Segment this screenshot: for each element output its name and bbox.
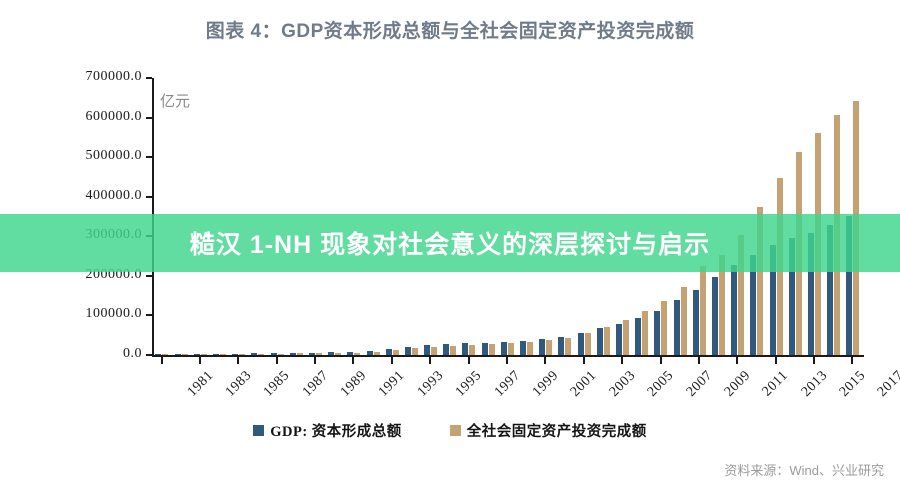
- bar-gdp-capital-formation: [501, 342, 507, 355]
- x-tick-label: 2017: [875, 368, 900, 401]
- bar-gdp-capital-formation: [347, 352, 353, 355]
- x-tick-label: 2007: [683, 368, 716, 401]
- bar-gdp-capital-formation: [194, 354, 200, 355]
- bar-gdp-capital-formation: [309, 353, 315, 356]
- bar-fixed-asset-investment: [642, 311, 648, 355]
- bar-gdp-capital-formation: [175, 354, 181, 355]
- bar-gdp-capital-formation: [271, 353, 277, 355]
- x-tick-label: 1995: [453, 368, 486, 401]
- bar-gdp-capital-formation: [213, 354, 219, 355]
- source-note: 资料来源：Wind、兴业研究: [724, 460, 884, 479]
- x-tick-mark: [314, 357, 316, 364]
- x-tick-label: 1989: [338, 368, 371, 401]
- bar-gdp-capital-formation: [635, 318, 641, 355]
- x-tick-label: 1987: [300, 368, 333, 401]
- y-tick-label: 400000.0: [86, 188, 143, 204]
- x-tick-label: 2015: [837, 368, 870, 401]
- chart-legend: GDP: 资本形成总额全社会固定资产投资完成额: [0, 420, 900, 441]
- bar-fixed-asset-investment: [162, 354, 168, 355]
- y-tick-label: 600000.0: [86, 109, 143, 125]
- bar-fixed-asset-investment: [585, 333, 591, 355]
- legend-item: 全社会固定资产投资完成额: [450, 420, 647, 441]
- bar-fixed-asset-investment: [201, 354, 207, 355]
- bar-gdp-capital-formation: [654, 311, 660, 355]
- watermark-text: 糙汉 1-NH 现象对社会意义的深层探讨与启示: [190, 225, 710, 261]
- x-tick-label: 2005: [645, 368, 678, 401]
- legend-swatch: [450, 425, 461, 436]
- bar-fixed-asset-investment: [220, 354, 226, 355]
- bar-fixed-asset-investment: [278, 354, 284, 356]
- bar-fixed-asset-investment: [258, 354, 264, 355]
- x-tick-mark: [583, 357, 585, 364]
- legend-item: GDP: 资本形成总额: [253, 420, 402, 441]
- bar-fixed-asset-investment: [374, 352, 380, 355]
- x-tick-mark: [621, 357, 623, 364]
- bar-gdp-capital-formation: [597, 328, 603, 355]
- bar-fixed-asset-investment: [546, 340, 552, 355]
- bar-gdp-capital-formation: [539, 339, 545, 355]
- bar-gdp-capital-formation: [674, 300, 680, 355]
- bar-fixed-asset-investment: [316, 353, 322, 355]
- bar-gdp-capital-formation: [443, 344, 449, 355]
- bar-gdp-capital-formation: [712, 277, 718, 355]
- bar-fixed-asset-investment: [508, 343, 514, 355]
- bar-gdp-capital-formation: [155, 354, 161, 355]
- legend-swatch: [253, 425, 264, 436]
- x-tick-label: 1997: [491, 368, 524, 401]
- x-tick-mark: [506, 357, 508, 364]
- bar-fixed-asset-investment: [335, 353, 341, 355]
- x-tick-label: 1983: [223, 368, 256, 401]
- y-tick-label: 100000.0: [86, 306, 143, 322]
- bar-gdp-capital-formation: [367, 351, 373, 355]
- bar-fixed-asset-investment: [604, 327, 610, 355]
- y-tick-mark: [146, 156, 152, 158]
- y-tick-mark: [146, 117, 152, 119]
- y-tick-mark: [146, 196, 152, 198]
- bar-gdp-capital-formation: [520, 341, 526, 355]
- x-tick-mark: [851, 357, 853, 364]
- x-tick-mark: [199, 357, 201, 364]
- bar-gdp-capital-formation: [462, 343, 468, 355]
- x-tick-mark: [544, 357, 546, 364]
- x-tick-mark: [736, 357, 738, 364]
- bar-fixed-asset-investment: [297, 353, 303, 355]
- bar-gdp-capital-formation: [328, 352, 334, 355]
- bar-fixed-asset-investment: [661, 301, 667, 355]
- bar-gdp-capital-formation: [558, 337, 564, 355]
- bar-fixed-asset-investment: [412, 348, 418, 355]
- bar-gdp-capital-formation: [251, 353, 257, 355]
- bar-fixed-asset-investment: [393, 350, 399, 355]
- bar-fixed-asset-investment: [565, 338, 571, 355]
- bar-gdp-capital-formation: [578, 333, 584, 355]
- y-tick-mark: [146, 314, 152, 316]
- x-tick-label: 2013: [798, 368, 831, 401]
- bar-fixed-asset-investment: [182, 354, 188, 355]
- bar-gdp-capital-formation: [731, 265, 737, 355]
- x-tick-mark: [660, 357, 662, 364]
- bar-fixed-asset-investment: [700, 266, 706, 355]
- y-tick-mark: [146, 275, 152, 277]
- bar-fixed-asset-investment: [681, 287, 687, 355]
- bar-gdp-capital-formation: [482, 343, 488, 355]
- bar-fixed-asset-investment: [469, 345, 475, 355]
- bar-gdp-capital-formation: [386, 349, 392, 355]
- bar-fixed-asset-investment: [431, 347, 437, 355]
- x-tick-label: 2009: [722, 368, 755, 401]
- x-tick-label: 1985: [261, 368, 294, 401]
- x-tick-mark: [237, 357, 239, 364]
- x-tick-mark: [352, 357, 354, 364]
- x-tick-mark: [391, 357, 393, 364]
- y-tick-label: 700000.0: [86, 69, 143, 85]
- bar-gdp-capital-formation: [290, 353, 296, 355]
- bar-fixed-asset-investment: [239, 354, 245, 355]
- x-axis-line: [152, 355, 864, 357]
- x-tick-mark: [276, 357, 278, 364]
- bar-fixed-asset-investment: [489, 344, 495, 355]
- bar-gdp-capital-formation: [232, 354, 238, 355]
- bar-fixed-asset-investment: [354, 353, 360, 355]
- x-tick-label: 2011: [760, 368, 792, 400]
- chart-title: 图表 4：GDP资本形成总额与全社会固定资产投资完成额: [0, 16, 900, 43]
- bar-fixed-asset-investment: [450, 346, 456, 355]
- y-tick-mark: [146, 354, 152, 356]
- bar-gdp-capital-formation: [616, 324, 622, 355]
- x-tick-mark: [468, 357, 470, 364]
- x-tick-mark: [813, 357, 815, 364]
- x-tick-mark: [161, 357, 163, 364]
- y-tick-mark: [146, 77, 152, 79]
- x-tick-label: 1991: [376, 368, 409, 401]
- bar-fixed-asset-investment: [527, 342, 533, 355]
- x-tick-mark: [775, 357, 777, 364]
- x-tick-mark: [429, 357, 431, 364]
- legend-label: 全社会固定资产投资完成额: [467, 420, 647, 441]
- y-tick-label: 500000.0: [86, 148, 143, 164]
- x-tick-label: 2001: [568, 368, 601, 401]
- bar-gdp-capital-formation: [405, 347, 411, 355]
- x-tick-mark: [698, 357, 700, 364]
- bar-gdp-capital-formation: [693, 290, 699, 355]
- x-tick-label: 1999: [530, 368, 563, 401]
- x-tick-label: 2003: [607, 368, 640, 401]
- y-tick-label: 0.0: [123, 346, 142, 362]
- watermark-banner: 糙汉 1-NH 现象对社会意义的深层探讨与启示: [0, 214, 900, 272]
- bar-fixed-asset-investment: [623, 320, 629, 355]
- x-tick-label: 1981: [184, 368, 217, 401]
- y-unit-label: 亿元: [160, 90, 190, 111]
- x-tick-label: 1993: [415, 368, 448, 401]
- bar-gdp-capital-formation: [424, 345, 430, 355]
- legend-label: GDP: 资本形成总额: [270, 420, 402, 441]
